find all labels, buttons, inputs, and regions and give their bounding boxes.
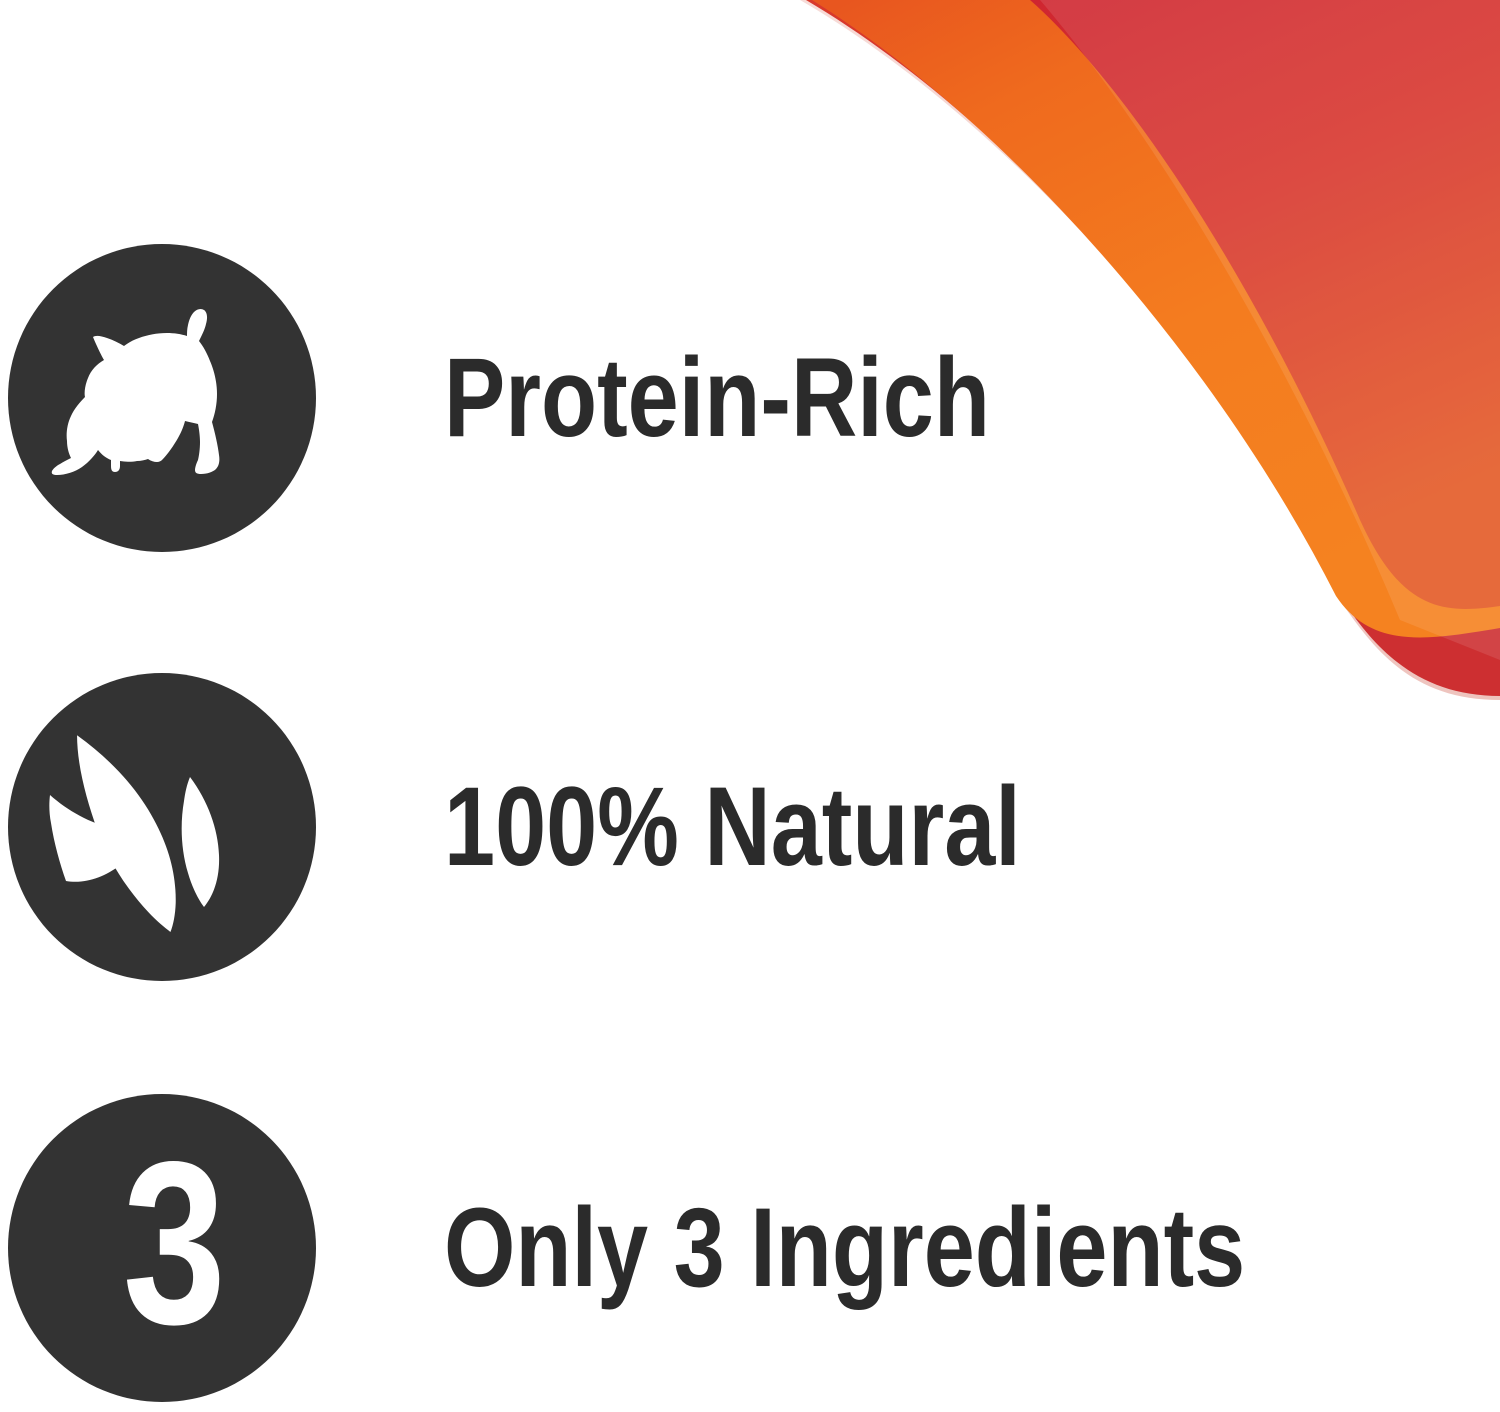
feature-label-ingredients: Only 3 Ingredients [444, 1192, 1245, 1304]
feature-label-protein-rich: Protein-Rich [444, 342, 990, 454]
product-feature-graphic: Protein-Rich 100% Na [0, 0, 1500, 1412]
cat-icon-badge [8, 244, 316, 552]
feature-row: 3 Only 3 Ingredients [0, 1093, 1300, 1403]
cat-icon [47, 298, 277, 498]
feature-list: Protein-Rich 100% Na [0, 0, 1500, 1412]
number-badge-icon: 3 [123, 1128, 225, 1360]
feature-row: Protein-Rich [0, 243, 1300, 553]
number-badge-icon-badge: 3 [8, 1094, 316, 1402]
leaf-icon [38, 705, 286, 949]
feature-row: 100% Natural [0, 672, 1300, 982]
leaf-icon-badge [8, 673, 316, 981]
feature-label-natural: 100% Natural [444, 771, 1021, 883]
